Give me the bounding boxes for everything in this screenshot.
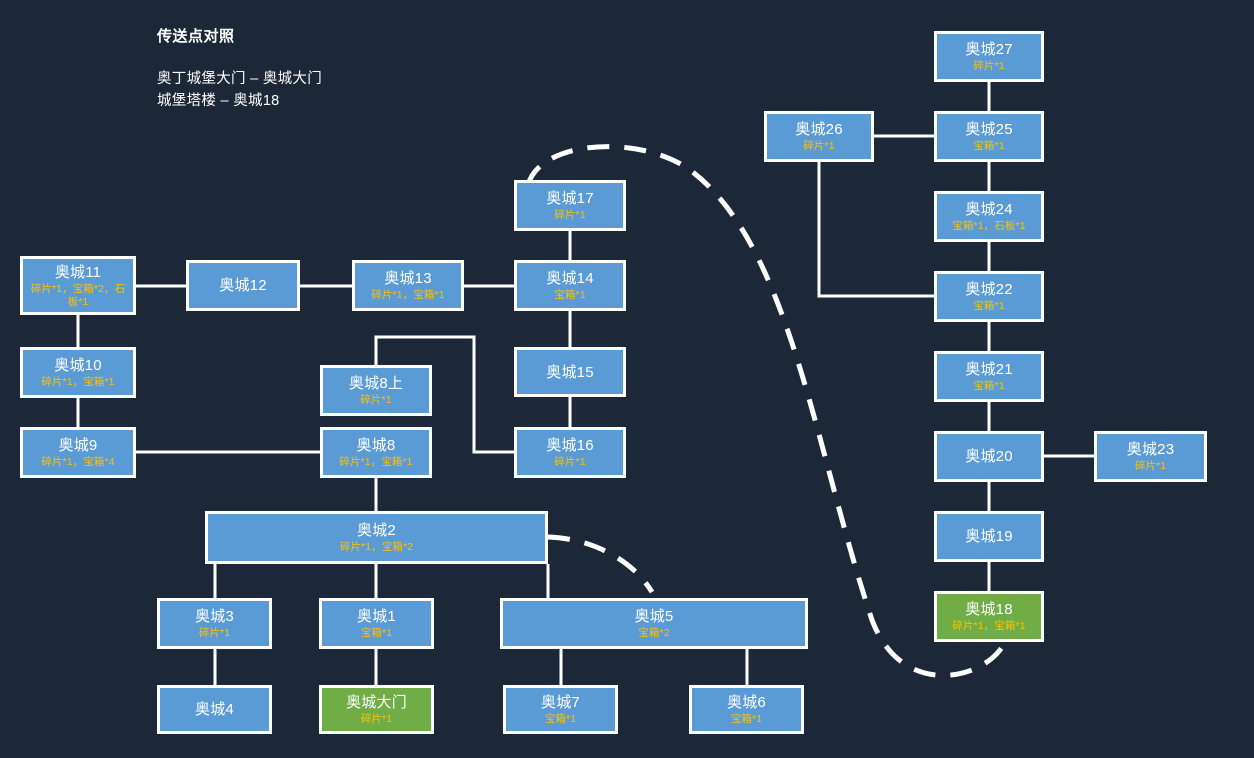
node-title: 奥城16 <box>546 436 594 455</box>
node-n24[interactable]: 奥城24宝箱*1，石板*1 <box>934 191 1044 242</box>
node-subtitle: 碎片*1，宝箱*1 <box>41 376 114 389</box>
node-n27[interactable]: 奥城27碎片*1 <box>934 31 1044 82</box>
node-subtitle: 碎片*1，宝箱*2，石板*1 <box>26 283 130 309</box>
node-subtitle: 宝箱*1 <box>731 713 762 726</box>
node-n2[interactable]: 奥城2碎片*1，宝箱*2 <box>205 511 548 564</box>
node-title: 奥城7 <box>541 693 580 712</box>
node-subtitle: 宝箱*1 <box>545 713 576 726</box>
node-subtitle: 碎片*1 <box>1135 460 1166 473</box>
node-subtitle: 碎片*1，宝箱*4 <box>41 456 114 469</box>
node-title: 奥城22 <box>965 280 1013 299</box>
node-title: 奥城26 <box>795 120 843 139</box>
node-n1[interactable]: 奥城1宝箱*1 <box>319 598 434 649</box>
node-subtitle: 宝箱*2 <box>638 627 669 640</box>
node-n25[interactable]: 奥城25宝箱*1 <box>934 111 1044 162</box>
node-title: 奥城15 <box>546 363 594 382</box>
node-title: 奥城9 <box>59 436 98 455</box>
legend: 传送点对照 奥丁城堡大门 – 奥城大门 城堡塔楼 – 奥城18 <box>157 26 577 112</box>
node-n17[interactable]: 奥城17碎片*1 <box>514 180 626 231</box>
node-subtitle: 宝箱*1 <box>554 289 585 302</box>
node-n3[interactable]: 奥城3碎片*1 <box>157 598 272 649</box>
node-n23[interactable]: 奥城23碎片*1 <box>1094 431 1207 482</box>
node-title: 奥城4 <box>195 700 234 719</box>
node-subtitle: 碎片*1 <box>199 627 230 640</box>
node-subtitle: 宝箱*1 <box>973 140 1004 153</box>
legend-lines: 奥丁城堡大门 – 奥城大门 城堡塔楼 – 奥城18 <box>157 68 577 112</box>
node-title: 奥城3 <box>195 607 234 626</box>
node-n19[interactable]: 奥城19 <box>934 511 1044 562</box>
node-subtitle: 碎片*1，宝箱*1 <box>339 456 412 469</box>
node-title: 奥城20 <box>965 447 1013 466</box>
node-title: 奥城25 <box>965 120 1013 139</box>
node-title: 奥城14 <box>546 269 594 288</box>
node-subtitle: 碎片*1 <box>554 209 585 222</box>
node-n15[interactable]: 奥城15 <box>514 347 626 397</box>
node-title: 奥城8 <box>357 436 396 455</box>
node-n14[interactable]: 奥城14宝箱*1 <box>514 260 626 311</box>
node-title: 奥城1 <box>357 607 396 626</box>
node-n8u[interactable]: 奥城8上碎片*1 <box>320 365 432 416</box>
edge-solid <box>819 162 934 296</box>
node-subtitle: 宝箱*1 <box>973 300 1004 313</box>
node-n16[interactable]: 奥城16碎片*1 <box>514 427 626 478</box>
node-subtitle: 宝箱*1 <box>361 627 392 640</box>
node-subtitle: 宝箱*1 <box>973 380 1004 393</box>
node-subtitle: 碎片*1 <box>361 713 392 726</box>
node-subtitle: 碎片*1 <box>360 394 391 407</box>
node-title: 奥城8上 <box>349 374 403 393</box>
node-n8[interactable]: 奥城8碎片*1，宝箱*1 <box>320 427 432 478</box>
diagram-canvas: 传送点对照 奥丁城堡大门 – 奥城大门 城堡塔楼 – 奥城18 奥城27碎片*1… <box>0 0 1254 758</box>
node-n4[interactable]: 奥城4 <box>157 685 272 734</box>
node-title: 奥城6 <box>727 693 766 712</box>
node-title: 奥城18 <box>965 600 1013 619</box>
node-title: 奥城12 <box>219 276 267 295</box>
node-title: 奥城10 <box>54 356 102 375</box>
node-subtitle: 碎片*1 <box>554 456 585 469</box>
legend-title: 传送点对照 <box>157 26 577 47</box>
node-title: 奥城17 <box>546 189 594 208</box>
node-n22[interactable]: 奥城22宝箱*1 <box>934 271 1044 322</box>
node-title: 奥城21 <box>965 360 1013 379</box>
node-n21[interactable]: 奥城21宝箱*1 <box>934 351 1044 402</box>
node-title: 奥城19 <box>965 527 1013 546</box>
node-title: 奥城5 <box>635 607 674 626</box>
node-title: 奥城23 <box>1127 440 1175 459</box>
node-subtitle: 碎片*1，宝箱*1 <box>371 289 444 302</box>
node-n6[interactable]: 奥城6宝箱*1 <box>689 685 804 734</box>
node-ngate[interactable]: 奥城大门碎片*1 <box>319 685 434 734</box>
node-subtitle: 碎片*1 <box>803 140 834 153</box>
edge-dashed-teleport <box>548 537 652 592</box>
node-n7[interactable]: 奥城7宝箱*1 <box>503 685 618 734</box>
node-title: 奥城27 <box>965 40 1013 59</box>
node-n12[interactable]: 奥城12 <box>186 260 300 311</box>
node-n10[interactable]: 奥城10碎片*1，宝箱*1 <box>20 347 136 398</box>
node-n5[interactable]: 奥城5宝箱*2 <box>500 598 808 649</box>
node-title: 奥城2 <box>357 521 396 540</box>
node-n20[interactable]: 奥城20 <box>934 431 1044 482</box>
node-title: 奥城大门 <box>346 693 407 712</box>
node-subtitle: 碎片*1，宝箱*2 <box>340 541 413 554</box>
node-subtitle: 碎片*1，宝箱*1 <box>952 620 1025 633</box>
node-title: 奥城13 <box>384 269 432 288</box>
node-subtitle: 碎片*1 <box>973 60 1004 73</box>
node-n26[interactable]: 奥城26碎片*1 <box>764 111 874 162</box>
legend-line-1: 奥丁城堡大门 – 奥城大门 <box>157 68 577 90</box>
node-n11[interactable]: 奥城11碎片*1，宝箱*2，石板*1 <box>20 256 136 315</box>
node-n9[interactable]: 奥城9碎片*1，宝箱*4 <box>20 427 136 478</box>
node-n13[interactable]: 奥城13碎片*1，宝箱*1 <box>352 260 464 311</box>
node-title: 奥城24 <box>965 200 1013 219</box>
node-n18[interactable]: 奥城18碎片*1，宝箱*1 <box>934 591 1044 642</box>
node-subtitle: 宝箱*1，石板*1 <box>952 220 1025 233</box>
legend-line-2: 城堡塔楼 – 奥城18 <box>157 90 577 112</box>
node-title: 奥城11 <box>55 263 101 282</box>
